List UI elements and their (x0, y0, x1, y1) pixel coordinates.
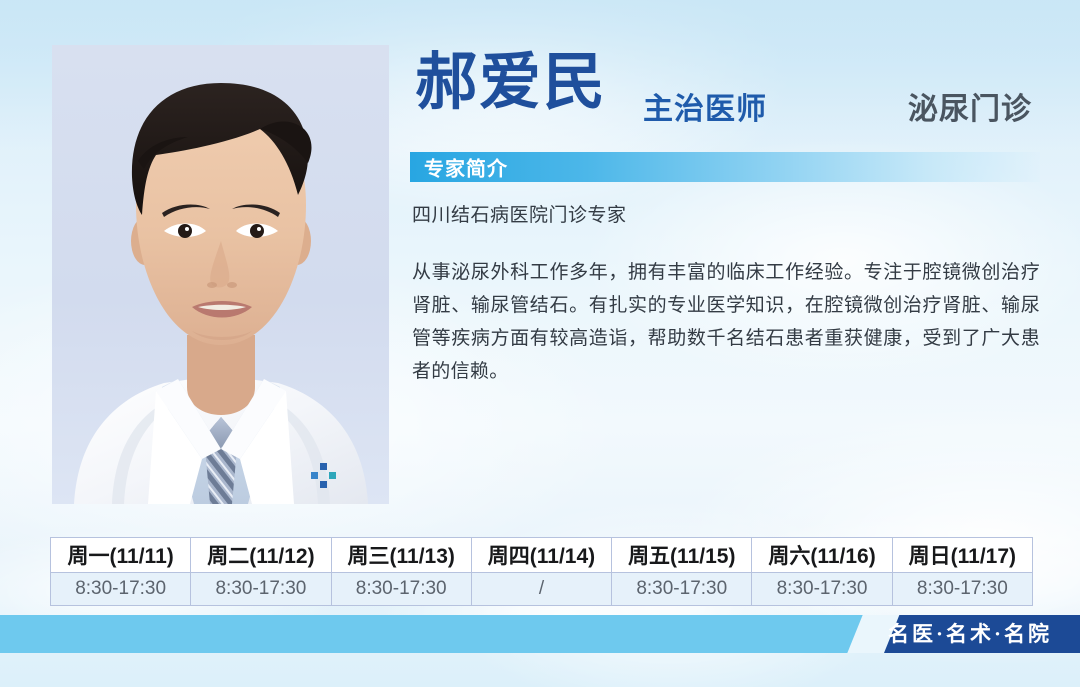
section-header-bar: 专家简介 (410, 152, 1040, 182)
doctor-profile-poster: 郝爱民 主治医师 泌尿门诊 专家简介 四川结石病医院门诊专家 从事泌尿外科工作多… (0, 0, 1080, 687)
schedule-hours-cell: 8:30-17:30 (892, 573, 1032, 606)
doctor-portrait-photo (52, 45, 389, 504)
schedule-day-header: 周二(11/12) (191, 538, 331, 573)
footer-slogan: 名医·名术·名院 (888, 615, 1052, 653)
schedule-day-header: 周一(11/11) (51, 538, 191, 573)
schedule-hours-row: 8:30-17:30 8:30-17:30 8:30-17:30 / 8:30-… (51, 573, 1033, 606)
footer-band: 名医·名术·名院 (0, 615, 1080, 653)
schedule-day-header: 周日(11/17) (892, 538, 1032, 573)
schedule-hours-cell: / (471, 573, 611, 606)
portrait-illustration (52, 45, 389, 504)
schedule-header-row: 周一(11/11) 周二(11/12) 周三(11/13) 周四(11/14) … (51, 538, 1033, 573)
doctor-name: 郝爱民 (415, 52, 607, 114)
weekly-schedule-table: 周一(11/11) 周二(11/12) 周三(11/13) 周四(11/14) … (50, 537, 1033, 606)
schedule-hours-cell: 8:30-17:30 (752, 573, 892, 606)
section-header-label: 专家简介 (424, 153, 508, 182)
department-label: 泌尿门诊 (908, 84, 1032, 128)
profile-lead-text: 四川结石病医院门诊专家 (412, 200, 627, 227)
schedule-hours-cell: 8:30-17:30 (191, 573, 331, 606)
schedule-day-header: 周四(11/14) (471, 538, 611, 573)
profile-bio-text: 从事泌尿外科工作多年，拥有丰富的临床工作经验。专注于腔镜微创治疗肾脏、输尿管结石… (412, 256, 1040, 388)
schedule-hours-cell: 8:30-17:30 (612, 573, 752, 606)
doctor-title: 主治医师 (643, 84, 767, 128)
schedule-day-header: 周五(11/15) (612, 538, 752, 573)
schedule-day-header: 周六(11/16) (752, 538, 892, 573)
schedule-hours-cell: 8:30-17:30 (51, 573, 191, 606)
schedule-hours-cell: 8:30-17:30 (331, 573, 471, 606)
schedule-day-header: 周三(11/13) (331, 538, 471, 573)
